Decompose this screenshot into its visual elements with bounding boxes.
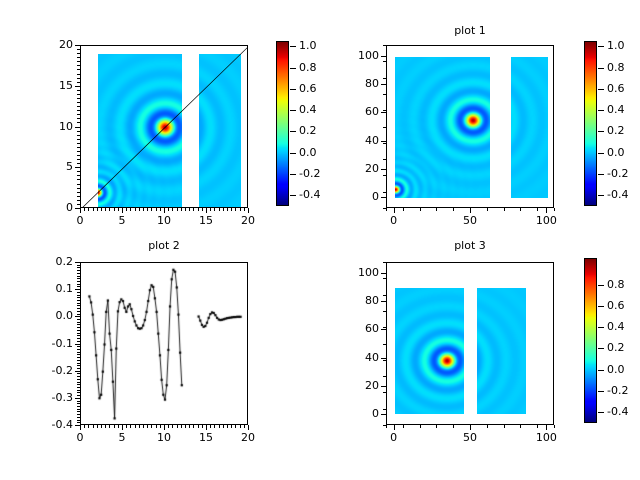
xtick-minor-top-left-35 [227,208,228,211]
image-panel-top-right-0 [395,57,490,198]
ytick-label-bottom-left-5: -0.3 [26,392,73,403]
ytick-minor-bottom-left-16 [77,305,80,306]
ytick-minor-bottom-left-44 [77,382,80,383]
xtick-minor-bottom-left-40 [248,425,249,428]
ytick-minor-bottom-left-34 [77,354,80,355]
ytick-label-bottom-left-1: 0.1 [26,283,73,294]
ytick-minor-bottom-left-12 [77,295,80,296]
xtick-minor-bottom-right-10 [554,425,555,428]
cbar-tick-top-right-4 [598,131,604,132]
xtick-minor-top-left-6 [105,208,106,211]
xtick-minor-bottom-left-11 [126,425,127,428]
ytick-minor-bottom-left-48 [77,392,80,393]
xtick-minor-bottom-right-7 [504,425,505,428]
ytick-minor-bottom-left-55 [77,411,80,412]
xtick-label-top-right-2: 100 [526,215,566,226]
ytick-minor-bottom-left-15 [77,303,80,304]
cbar-tick-top-left-4 [290,131,296,132]
ytick-minor-top-left-37 [77,196,80,197]
xtick-minor-bottom-left-0 [80,425,81,428]
ytick-label-bottom-left-6: -0.4 [26,419,73,430]
xtick-minor-bottom-left-25 [185,425,186,428]
ytick-minor-top-right-5 [383,127,386,128]
ytick-minor-top-left-12 [77,94,80,95]
colorbar-gradient-top-right [585,42,596,205]
xtick-minor-bottom-left-22 [172,425,173,428]
xtick-minor-top-left-31 [210,208,211,211]
cbar-tick-top-left-2 [290,89,296,90]
xtick-label-top-left-2: 10 [144,215,184,226]
ytick-minor-bottom-left-9 [77,286,80,287]
ytick-minor-top-left-5 [77,65,80,66]
xtick-minor-bottom-right-8 [520,425,521,428]
xtick-minor-bottom-left-34 [223,425,224,428]
image-panel-top-right-1 [511,57,548,198]
ytick-minor-bottom-left-38 [77,365,80,366]
xtick-minor-bottom-left-32 [214,425,215,428]
ytick-minor-top-left-23 [77,139,80,140]
ytick-minor-bottom-left-28 [77,338,80,339]
ytick-minor-top-left-27 [77,155,80,156]
xtick-minor-top-left-11 [126,208,127,211]
ytick-minor-bottom-right-6 [383,360,386,361]
xtick-minor-top-left-30 [206,208,207,211]
ytick-minor-top-left-18 [77,118,80,119]
xtick-minor-top-left-10 [122,208,123,211]
ytick-minor-top-left-36 [77,192,80,193]
xtick-minor-bottom-left-36 [231,425,232,428]
ytick-minor-bottom-left-14 [77,300,80,301]
xtick-minor-top-left-33 [219,208,220,211]
ytick-bottom-right-2 [381,358,386,359]
ytick-minor-bottom-left-4 [77,273,80,274]
xtick-minor-top-right-0 [386,208,387,211]
ytick-minor-bottom-left-26 [77,333,80,334]
xtick-minor-top-left-17 [151,208,152,211]
cbar-tick-label-bottom-right-1: 0.6 [607,300,640,311]
ytick-minor-bottom-left-40 [77,371,80,372]
ytick-minor-bottom-left-53 [77,406,80,407]
xtick-minor-top-left-2 [88,208,89,211]
cbar-tick-top-right-2 [598,89,604,90]
ytick-label-bottom-right-4: 80 [332,295,379,306]
image-panel-bottom-right-1 [477,288,526,414]
xtick-minor-top-left-27 [193,208,194,211]
xtick-minor-bottom-left-3 [93,425,94,428]
ytick-minor-bottom-left-57 [77,417,80,418]
cbar-tick-label-bottom-right-3: 0.2 [607,342,640,353]
xtick-label-top-left-4: 20 [228,215,268,226]
cbar-tick-label-top-right-5: 0.0 [607,147,640,158]
cbar-tick-label-bottom-right-5: -0.2 [607,385,640,396]
ytick-minor-bottom-left-37 [77,363,80,364]
ytick-label-top-right-2: 40 [332,135,379,146]
cbar-tick-label-top-left-5: 0.0 [299,147,341,158]
xtick-minor-bottom-left-15 [143,425,144,428]
xtick-top-right-0 [394,208,395,213]
ytick-minor-bottom-left-1 [77,265,80,266]
xtick-minor-top-left-36 [231,208,232,211]
xtick-minor-top-left-37 [235,208,236,211]
ytick-label-bottom-right-1: 20 [332,380,379,391]
ytick-minor-bottom-left-56 [77,414,80,415]
xtick-minor-top-left-0 [80,208,81,211]
xtick-minor-top-right-1 [403,208,404,211]
cbar-tick-label-bottom-right-4: 0.0 [607,364,640,375]
ytick-minor-bottom-left-8 [77,284,80,285]
xtick-minor-top-right-2 [420,208,421,211]
xtick-top-right-2 [546,208,547,213]
xtick-label-bottom-left-0: 0 [60,432,100,443]
image-data-bottom-right-0 [395,288,464,414]
xtick-minor-top-left-18 [156,208,157,211]
ytick-minor-top-left-33 [77,179,80,180]
xtick-minor-bottom-right-2 [420,425,421,428]
ytick-bottom-right-4 [381,301,386,302]
ytick-minor-bottom-left-51 [77,401,80,402]
ytick-minor-bottom-left-2 [77,267,80,268]
ytick-minor-bottom-left-39 [77,368,80,369]
xtick-minor-bottom-left-18 [156,425,157,428]
ytick-minor-top-right-8 [383,175,386,176]
cbar-tick-top-right-3 [598,110,604,111]
xtick-minor-bottom-left-26 [189,425,190,428]
cbar-tick-top-right-1 [598,68,604,69]
xtick-minor-bottom-right-4 [453,425,454,428]
cbar-tick-bottom-right-1 [598,306,604,307]
image-data-top-right-0 [395,57,490,198]
ytick-minor-bottom-right-5 [383,344,386,345]
image-panel-bottom-right-0 [395,288,464,414]
xtick-minor-top-left-5 [101,208,102,211]
ytick-minor-bottom-left-35 [77,357,80,358]
ytick-minor-bottom-left-33 [77,352,80,353]
ytick-label-bottom-right-3: 60 [332,323,379,334]
ytick-minor-bottom-left-17 [77,308,80,309]
xtick-minor-bottom-right-9 [537,425,538,428]
ytick-minor-bottom-left-0 [77,262,80,263]
ytick-label-top-right-1: 20 [332,163,379,174]
ytick-minor-top-left-19 [77,122,80,123]
cbar-tick-bottom-right-4 [598,370,604,371]
ytick-minor-bottom-left-19 [77,314,80,315]
cbar-tick-bottom-right-3 [598,348,604,349]
xtick-minor-bottom-left-1 [84,425,85,428]
ytick-minor-top-left-21 [77,131,80,132]
ytick-minor-top-left-17 [77,114,80,115]
ytick-minor-bottom-left-21 [77,319,80,320]
ytick-minor-top-left-15 [77,106,80,107]
ytick-minor-top-left-22 [77,135,80,136]
xtick-minor-bottom-right-6 [487,425,488,428]
ytick-minor-top-left-7 [77,74,80,75]
ytick-label-top-left-4: 20 [26,39,73,50]
xtick-label-bottom-left-4: 20 [228,432,268,443]
xtick-minor-top-right-5 [470,208,471,211]
xtick-minor-bottom-left-14 [139,425,140,428]
cbar-tick-top-left-6 [290,174,296,175]
ytick-minor-bottom-right-1 [383,278,386,279]
xtick-minor-bottom-right-5 [470,425,471,428]
ytick-label-top-right-4: 80 [332,78,379,89]
ytick-label-bottom-left-0: 0.2 [26,256,73,267]
xtick-label-bottom-left-1: 5 [102,432,142,443]
xtick-label-bottom-right-0: 0 [374,432,414,443]
xtick-bottom-right-2 [546,425,547,430]
image-data-top-right-1 [511,57,548,198]
xtick-minor-top-left-19 [160,208,161,211]
ytick-minor-bottom-left-24 [77,327,80,328]
xtick-label-top-left-3: 15 [186,215,226,226]
ytick-minor-top-left-20 [77,127,80,128]
ytick-minor-top-right-3 [383,94,386,95]
ytick-top-right-3 [381,112,386,113]
xtick-label-top-right-0: 0 [374,215,414,226]
ytick-minor-top-left-11 [77,90,80,91]
xtick-minor-top-right-8 [520,208,521,211]
xtick-minor-bottom-left-27 [193,425,194,428]
ytick-minor-top-left-1 [77,49,80,50]
ytick-minor-top-left-16 [77,110,80,111]
ytick-minor-top-left-26 [77,151,80,152]
axes-top-right [386,45,554,208]
xtick-minor-bottom-right-0 [386,425,387,428]
ytick-minor-bottom-left-31 [77,346,80,347]
xtick-label-top-left-0: 0 [60,215,100,226]
xtick-minor-bottom-left-33 [219,425,220,428]
xtick-minor-bottom-left-8 [114,425,115,428]
ytick-minor-bottom-left-18 [77,311,80,312]
ytick-minor-bottom-left-27 [77,335,80,336]
xtick-minor-bottom-left-23 [177,425,178,428]
ytick-minor-top-right-4 [383,110,386,111]
xtick-minor-top-left-24 [181,208,182,211]
xtick-minor-top-left-26 [189,208,190,211]
xtick-minor-bottom-left-21 [168,425,169,428]
ytick-top-right-5 [381,56,386,57]
ytick-minor-top-left-6 [77,69,80,70]
ytick-minor-bottom-left-10 [77,289,80,290]
ytick-minor-bottom-left-60 [77,425,80,426]
xtick-minor-top-right-3 [436,208,437,211]
ytick-minor-bottom-left-30 [77,344,80,345]
ytick-minor-top-left-34 [77,184,80,185]
xtick-minor-top-left-3 [93,208,94,211]
xtick-minor-bottom-left-10 [122,425,123,428]
xtick-minor-bottom-left-24 [181,425,182,428]
cbar-tick-label-bottom-right-6: -0.4 [607,406,640,417]
ytick-minor-bottom-right-9 [383,409,386,410]
ytick-label-bottom-right-2: 40 [332,352,379,363]
xtick-minor-bottom-left-31 [210,425,211,428]
xtick-minor-bottom-left-29 [202,425,203,428]
ytick-top-right-4 [381,84,386,85]
xtick-minor-bottom-left-2 [88,425,89,428]
ytick-bottom-right-3 [381,329,386,330]
cbar-tick-top-left-1 [290,68,296,69]
ytick-minor-bottom-left-32 [77,349,80,350]
cbar-tick-label-top-right-0: 1.0 [607,40,640,51]
cbar-tick-top-right-6 [598,174,604,175]
ytick-minor-top-left-4 [77,61,80,62]
xtick-minor-top-left-20 [164,208,165,211]
xtick-label-bottom-left-2: 10 [144,432,184,443]
ytick-top-right-2 [381,141,386,142]
ytick-minor-bottom-left-6 [77,278,80,279]
ytick-minor-bottom-right-0 [383,262,386,263]
xtick-minor-top-left-38 [240,208,241,211]
ytick-minor-bottom-left-7 [77,281,80,282]
xtick-minor-bottom-left-19 [160,425,161,428]
ytick-minor-top-left-0 [77,45,80,46]
ytick-minor-bottom-left-54 [77,409,80,410]
axes-top-left [80,45,248,208]
xtick-minor-top-left-13 [135,208,136,211]
ytick-minor-bottom-left-42 [77,376,80,377]
ytick-label-bottom-left-3: -0.1 [26,338,73,349]
cbar-tick-label-top-left-1: 0.8 [299,62,341,73]
xtick-label-bottom-left-3: 15 [186,432,226,443]
ytick-minor-top-left-31 [77,171,80,172]
ytick-minor-bottom-right-4 [383,327,386,328]
ytick-minor-bottom-left-59 [77,422,80,423]
ytick-minor-bottom-right-3 [383,311,386,312]
axes-bottom-left [80,262,248,425]
ytick-label-bottom-left-2: 0.0 [26,310,73,321]
cbar-tick-label-top-right-1: 0.8 [607,62,640,73]
ytick-minor-top-left-39 [77,204,80,205]
xtick-minor-top-left-28 [198,208,199,211]
xtick-minor-top-left-23 [177,208,178,211]
ytick-minor-bottom-left-43 [77,379,80,380]
ytick-label-bottom-right-5: 100 [332,267,379,278]
subplot-title-bottom-right: plot 3 [390,240,550,252]
ytick-top-right-0 [381,197,386,198]
xtick-bottom-right-0 [394,425,395,430]
xtick-minor-bottom-left-39 [244,425,245,428]
xtick-minor-bottom-left-28 [198,425,199,428]
xtick-minor-bottom-left-35 [227,425,228,428]
xtick-minor-top-left-21 [168,208,169,211]
cbar-tick-top-left-5 [290,153,296,154]
ytick-minor-top-left-30 [77,167,80,168]
colorbar-gradient-top-left [277,42,288,205]
ytick-minor-bottom-left-45 [77,384,80,385]
axes-bottom-right [386,262,554,425]
xtick-label-top-right-1: 50 [450,215,490,226]
subplot-title-top-right: plot 1 [390,25,550,37]
ytick-minor-bottom-left-52 [77,403,80,404]
ytick-label-top-left-1: 5 [26,161,73,172]
xtick-minor-top-left-7 [109,208,110,211]
ytick-minor-top-left-9 [77,82,80,83]
xtick-minor-bottom-right-1 [403,425,404,428]
cbar-tick-label-top-right-4: 0.2 [607,125,640,136]
ytick-minor-top-left-38 [77,200,80,201]
xtick-minor-bottom-left-37 [235,425,236,428]
ytick-minor-bottom-left-5 [77,276,80,277]
ytick-minor-top-left-14 [77,102,80,103]
ytick-minor-bottom-left-11 [77,292,80,293]
ytick-bottom-right-1 [381,386,386,387]
xtick-minor-top-right-9 [537,208,538,211]
ytick-label-top-left-3: 15 [26,80,73,91]
ytick-minor-top-right-9 [383,192,386,193]
ytick-label-top-right-3: 60 [332,106,379,117]
line-series-canvas [81,263,248,425]
ytick-minor-bottom-left-50 [77,398,80,399]
xtick-label-top-left-1: 5 [102,215,142,226]
cbar-tick-top-left-0 [290,46,296,47]
xtick-minor-top-right-6 [487,208,488,211]
ytick-bottom-right-5 [381,273,386,274]
xtick-minor-bottom-left-13 [135,425,136,428]
colorbar-top-left [276,41,289,206]
xtick-minor-top-left-22 [172,208,173,211]
ytick-minor-bottom-left-58 [77,420,80,421]
xtick-minor-top-left-14 [139,208,140,211]
xtick-label-bottom-right-1: 50 [450,432,490,443]
xtick-minor-bottom-left-17 [151,425,152,428]
xtick-minor-top-left-4 [97,208,98,211]
xtick-label-bottom-right-2: 100 [526,432,566,443]
xtick-minor-top-right-10 [554,208,555,211]
xtick-minor-top-left-9 [118,208,119,211]
ytick-minor-top-right-10 [383,208,386,209]
xtick-minor-top-left-12 [130,208,131,211]
colorbar-top-right [584,41,597,206]
ytick-minor-top-left-13 [77,98,80,99]
xtick-minor-top-left-32 [214,208,215,211]
ytick-minor-bottom-left-41 [77,373,80,374]
xtick-minor-top-left-39 [244,208,245,211]
cbar-tick-top-right-7 [598,195,604,196]
cbar-tick-top-right-5 [598,153,604,154]
ytick-minor-bottom-right-7 [383,376,386,377]
subplot-title-bottom-left: plot 2 [84,240,244,252]
ytick-label-bottom-left-4: -0.2 [26,365,73,376]
xtick-minor-bottom-left-38 [240,425,241,428]
ytick-minor-bottom-left-49 [77,395,80,396]
xtick-minor-top-left-29 [202,208,203,211]
cbar-tick-top-left-7 [290,195,296,196]
ytick-label-top-right-0: 0 [332,191,379,202]
cbar-tick-label-top-right-6: -0.2 [607,168,640,179]
ytick-minor-bottom-left-23 [77,324,80,325]
ytick-minor-top-left-2 [77,53,80,54]
ytick-minor-bottom-right-8 [383,392,386,393]
figure-canvas: 05101520051015201.00.80.60.40.20.0-0.2-0… [0,0,640,480]
cbar-tick-bottom-right-0 [598,285,604,286]
ytick-minor-top-left-29 [77,163,80,164]
ytick-minor-top-left-24 [77,143,80,144]
xtick-minor-top-right-7 [504,208,505,211]
xtick-minor-top-left-40 [248,208,249,211]
xtick-minor-top-left-16 [147,208,148,211]
cbar-tick-top-left-3 [290,110,296,111]
colorbar-bottom-right [584,258,597,423]
ytick-minor-top-right-7 [383,159,386,160]
ytick-minor-bottom-left-46 [77,387,80,388]
ytick-minor-bottom-left-47 [77,390,80,391]
xtick-minor-bottom-left-4 [97,425,98,428]
cbar-tick-label-top-right-3: 0.4 [607,104,640,115]
ytick-minor-top-left-32 [77,175,80,176]
image-data-bottom-right-1 [477,288,526,414]
xtick-minor-top-left-8 [114,208,115,211]
ytick-minor-bottom-left-29 [77,341,80,342]
ytick-minor-top-left-28 [77,159,80,160]
